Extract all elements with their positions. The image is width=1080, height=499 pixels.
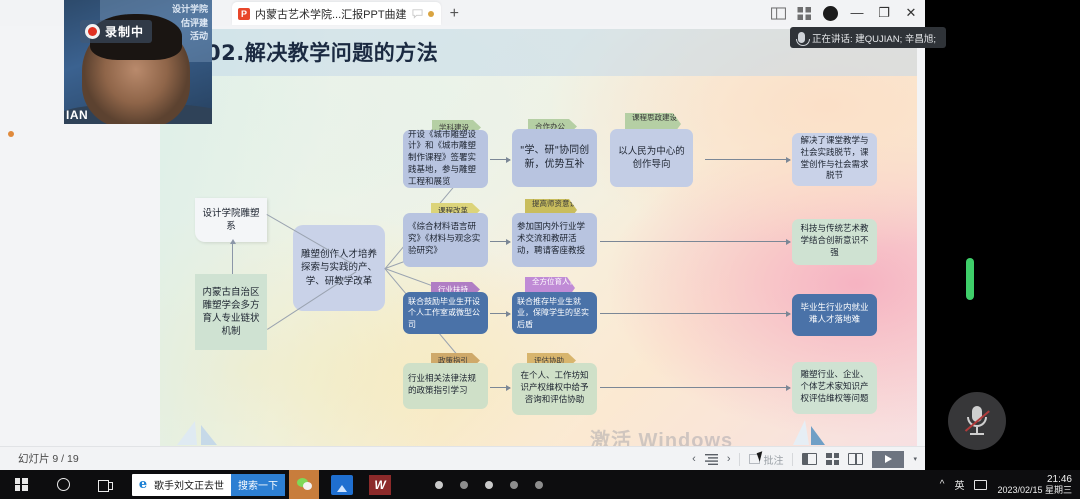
recording-label: 录制中 xyxy=(105,23,144,40)
start-slideshow-button[interactable] xyxy=(872,451,904,468)
node-association[interactable]: 内蒙古自治区雕塑学会多方育人专业链状机制 xyxy=(195,274,267,350)
taskbar-extra-indicators xyxy=(435,481,543,489)
annotation-label: 批注 xyxy=(763,452,783,467)
clock-time: 21:46 xyxy=(997,474,1072,486)
slide-sorter-view-button[interactable] xyxy=(826,453,839,465)
keyboard-layout-icon[interactable] xyxy=(974,480,987,490)
tab-title: 内蒙古艺术学院...汇报PPT曲建 xyxy=(255,6,407,22)
connector-assoc-to-dept xyxy=(232,243,233,274)
unsaved-indicator-icon xyxy=(428,11,434,17)
node-r4c1[interactable]: 行业相关法律法规的政策指引学习 xyxy=(403,363,488,409)
wps-icon: W xyxy=(369,475,391,495)
node-r1c1[interactable]: 开设《城市雕塑设计》和《城市雕塑制作课程》签署实践基地，参与雕塑工程和展览 xyxy=(403,130,488,188)
taskbar-app-meeting[interactable] xyxy=(323,470,361,499)
search-button[interactable] xyxy=(42,470,84,499)
start-button[interactable] xyxy=(0,470,42,499)
split-view-icon[interactable] xyxy=(771,7,786,20)
outline-list-icon[interactable] xyxy=(705,454,718,465)
prev-slide-button[interactable]: ‹ xyxy=(692,453,696,465)
indicator-dot-1 xyxy=(435,481,443,489)
node-r1c3[interactable]: 以人民为中心的创作导向 xyxy=(610,129,693,187)
node-r2c4-result[interactable]: 科技与传统艺术教学结合创新意识不强 xyxy=(792,219,877,265)
maximize-button[interactable]: ❐ xyxy=(876,0,892,26)
node-r4c2[interactable]: 在个人、工作坊知识产权维权中给予咨询和评估协助 xyxy=(512,363,597,415)
taskbar-clock[interactable]: 21:46 2023/02/15 星期三 xyxy=(997,474,1072,496)
node-department[interactable]: 设计学院雕塑系 xyxy=(195,198,267,242)
minimize-button[interactable]: — xyxy=(849,0,865,26)
participant-name: IAN xyxy=(66,108,88,122)
tab-presentation[interactable]: 内蒙古艺术学院...汇报PPT曲建 xyxy=(232,2,441,25)
presentation-file-icon xyxy=(238,8,250,20)
slideshow-options-chevron-icon[interactable]: ▾ xyxy=(913,455,917,463)
screen-root: 内蒙古艺术学院...汇报PPT曲建 + — xyxy=(0,0,1080,499)
new-tab-button[interactable]: + xyxy=(450,6,459,22)
task-view-button[interactable] xyxy=(84,470,126,499)
search-circle-icon xyxy=(57,478,70,491)
node-r4c4-result[interactable]: 雕塑行业、企业、个体艺术家知识产权评估维权等问题 xyxy=(792,362,877,414)
news-search-button[interactable]: 搜索一下 xyxy=(231,474,285,496)
reading-view-button[interactable] xyxy=(848,453,863,465)
arrow-r2-to-result2 xyxy=(600,241,790,242)
arrow-r4c1-to-r4c2 xyxy=(490,387,510,388)
clock-date: 2023/02/15 星期三 xyxy=(997,485,1072,495)
windows-activation-watermark: 激活 Windows xyxy=(590,424,733,446)
status-divider-2 xyxy=(792,453,793,466)
meeting-app-icon xyxy=(331,475,353,495)
arrow-r2c1-to-r2c2 xyxy=(490,241,510,242)
status-bar: 幻灯片 9 / 19 ‹ › 批注 xyxy=(0,446,925,470)
edge-browser-icon: e xyxy=(132,477,154,492)
webcam-video-overlay[interactable]: 设计学院 估评建 活动 录制中 IAN xyxy=(64,0,212,124)
close-button[interactable]: ✕ xyxy=(903,0,919,26)
slide-title: 02.解决教学问题的方法 xyxy=(206,37,438,67)
window-right-controls: — ❐ ✕ xyxy=(771,0,919,26)
task-view-icon xyxy=(98,479,112,491)
ime-indicator[interactable]: 英 xyxy=(954,477,964,492)
node-r3c4-result[interactable]: 毕业生行业内就业难人才落地难 xyxy=(792,294,877,336)
node-r1c4-result[interactable]: 解决了课堂教学与社会实践脱节，课堂创作与社会需求脱节 xyxy=(792,133,877,186)
normal-view-button[interactable] xyxy=(802,453,817,465)
boat-decoration-icon xyxy=(165,419,245,446)
tab-strip: 内蒙古艺术学院...汇报PPT曲建 + xyxy=(232,2,459,25)
node-r3c2[interactable]: 联合推存毕业生就业，保障学生的坚实后盾 xyxy=(512,292,597,334)
status-divider xyxy=(739,453,740,466)
speaking-indicator-text: 正在讲话: 建QUJIAN; 辛昌旭; xyxy=(812,31,936,45)
recording-badge: 录制中 xyxy=(80,20,152,43)
slide[interactable]: 02.解决教学问题的方法 设计学院雕塑系 内蒙古自治区雕塑学会多方育人专业链状机… xyxy=(160,29,917,446)
volume-level-indicator xyxy=(966,258,974,300)
next-slide-button[interactable]: › xyxy=(727,453,731,465)
indicator-dot-4 xyxy=(510,481,518,489)
speaking-indicator-toast: 正在讲话: 建QUJIAN; 辛昌旭; xyxy=(790,27,946,48)
microphone-icon xyxy=(798,32,805,43)
microphone-muted-icon xyxy=(965,406,989,436)
slide-counter: 幻灯片 9 / 19 xyxy=(18,451,79,466)
comment-icon[interactable] xyxy=(412,8,423,19)
mute-microphone-button[interactable] xyxy=(948,392,1006,450)
wechat-icon xyxy=(289,470,319,499)
taskbar-app-wechat[interactable] xyxy=(285,470,323,499)
tray-chevron-icon[interactable]: ^ xyxy=(940,479,945,490)
node-r2c1[interactable]: 《综合材料语言研究》《材料与观念实验研究》 xyxy=(403,213,488,267)
indicator-dot-3 xyxy=(485,481,493,489)
arrow-r1-to-result1 xyxy=(705,159,790,160)
windows-logo-icon xyxy=(15,478,28,491)
windows-taskbar: e 歌手刘文正去世 搜索一下 W ^ 英 21:46 2023/02/15 星期… xyxy=(0,470,1080,499)
boat-decoration-2-icon xyxy=(775,417,835,446)
node-r1c2[interactable]: "学、研"协同创新，优势互补 xyxy=(512,129,597,187)
user-avatar[interactable] xyxy=(823,6,838,21)
news-widget[interactable]: e 歌手刘文正去世 搜索一下 xyxy=(132,474,285,496)
taskbar-app-wps[interactable]: W xyxy=(361,470,399,499)
arrow-r1c1-to-r1c2 xyxy=(490,159,510,160)
news-headline: 歌手刘文正去世 xyxy=(154,477,231,492)
record-dot-icon xyxy=(85,24,100,39)
node-r3c1[interactable]: 联合鼓励毕业生开设个人工作室或微型公司 xyxy=(403,292,488,334)
indicator-dot-5 xyxy=(535,481,543,489)
node-r2c2[interactable]: 参加国内外行业学术交流和教研活动，聘请客座教授 xyxy=(512,213,597,267)
arrow-r4-to-result4 xyxy=(600,387,790,388)
grid-apps-icon[interactable] xyxy=(797,7,812,20)
annotation-button[interactable]: 批注 xyxy=(749,452,783,467)
arrow-r3c1-to-r3c2 xyxy=(490,313,510,314)
system-tray: ^ 英 21:46 2023/02/15 星期三 xyxy=(940,470,1080,499)
notification-dot-icon xyxy=(8,131,14,137)
indicator-dot-2 xyxy=(460,481,468,489)
arrow-r3-to-result3 xyxy=(600,313,790,314)
status-bar-right: ‹ › 批注 ▾ xyxy=(692,447,917,471)
